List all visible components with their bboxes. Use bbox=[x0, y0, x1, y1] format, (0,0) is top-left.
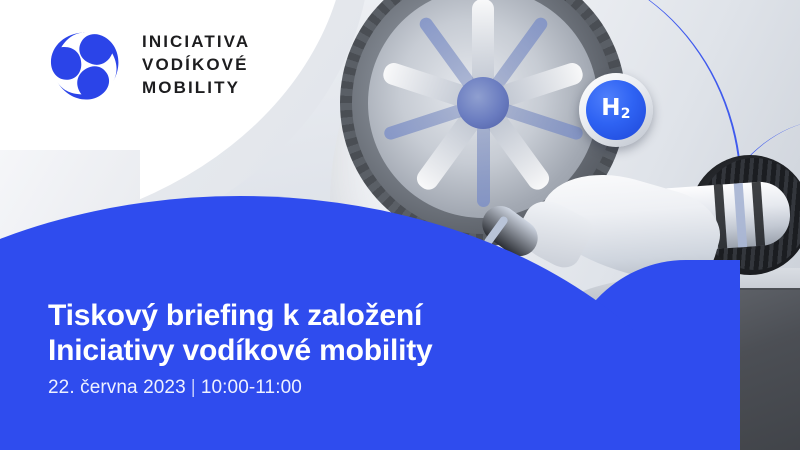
event-banner: H2 INICIATIVA VODÍKOVÉ MOBILITY bbox=[0, 0, 800, 450]
brand-line-1: INICIATIVA bbox=[142, 32, 250, 52]
datetime-separator: | bbox=[186, 377, 201, 398]
page-title: Tiskový briefing k založení Iniciativy v… bbox=[48, 298, 608, 368]
event-datetime: 22. června 2023|10:00-11:00 bbox=[48, 377, 608, 399]
h2-badge-disc: H2 bbox=[586, 80, 646, 140]
brand-line-3: MOBILITY bbox=[142, 78, 250, 98]
trefoil-droplet-logo-icon bbox=[48, 28, 122, 102]
headline-line-2: Iniciativy vodíkové mobility bbox=[48, 334, 433, 367]
brand-line-2: VODÍKOVÉ bbox=[142, 55, 250, 75]
h2-badge-label: H2 bbox=[601, 97, 631, 121]
headline-line-1: Tiskový briefing k založení bbox=[48, 299, 422, 332]
brand-logo: INICIATIVA VODÍKOVÉ MOBILITY bbox=[48, 28, 250, 102]
event-copy-block: Tiskový briefing k založení Iniciativy v… bbox=[48, 298, 608, 399]
event-time: 10:00-11:00 bbox=[201, 377, 302, 398]
wheel-hub bbox=[457, 77, 509, 129]
event-date: 22. června 2023 bbox=[48, 377, 186, 398]
brand-logo-text: INICIATIVA VODÍKOVÉ MOBILITY bbox=[142, 32, 250, 97]
h2-badge: H2 bbox=[579, 73, 653, 147]
